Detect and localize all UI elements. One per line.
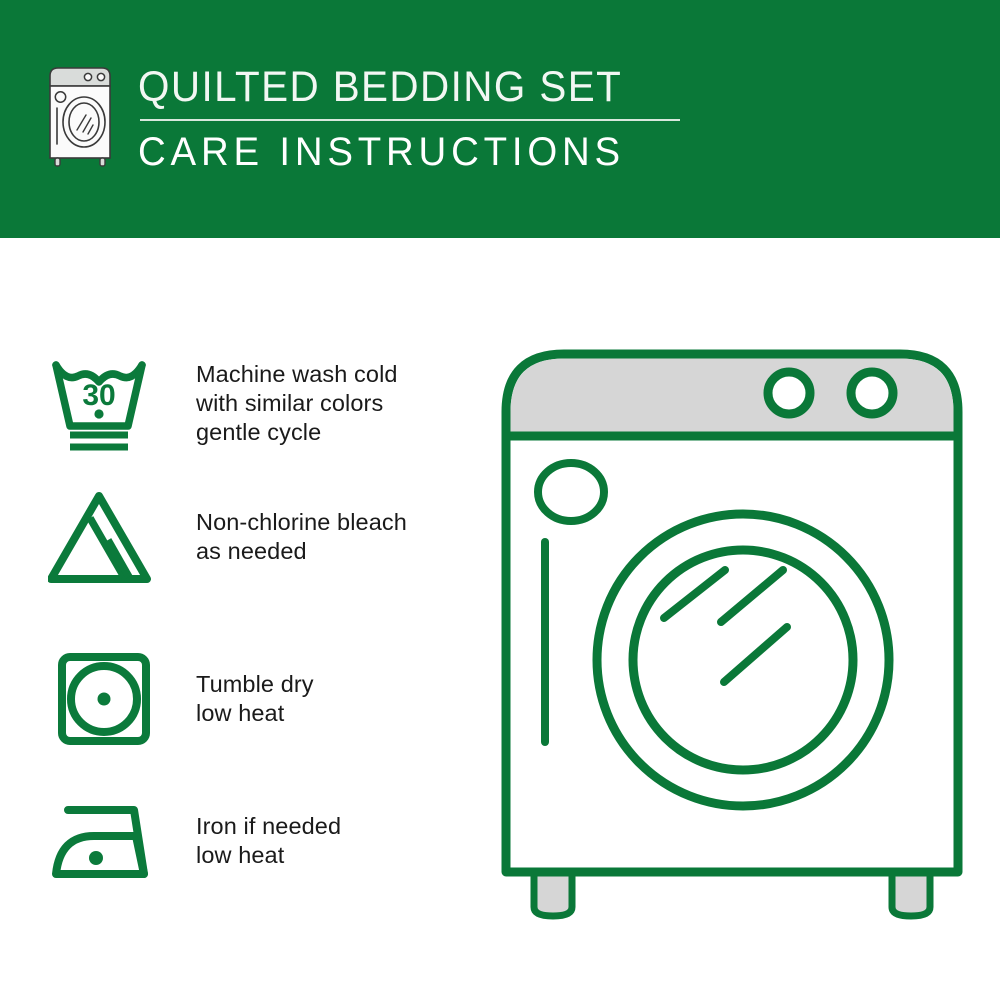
- header-band: QUILTED BEDDING SET CARE INSTRUCTIONS: [0, 0, 1000, 238]
- header-title-group: QUILTED BEDDING SET CARE INSTRUCTIONS: [138, 62, 680, 174]
- front-load-washing-machine-illustration: [490, 330, 990, 930]
- care-row-wash: 30 Machine wash cold with similar colors…: [48, 352, 398, 456]
- header-content: QUILTED BEDDING SET CARE INSTRUCTIONS: [44, 62, 680, 174]
- washing-machine-icon: [44, 62, 116, 172]
- care-row-bleach: Non-chlorine bleach as needed: [48, 486, 407, 590]
- care-text-wash: Machine wash cold with similar colors ge…: [160, 352, 398, 447]
- detergent-dial: [538, 463, 604, 521]
- knob-right: [851, 372, 893, 414]
- care-text-bleach: Non-chlorine bleach as needed: [160, 486, 407, 566]
- care-text-iron: Iron if needed low heat: [160, 790, 341, 870]
- page-title: QUILTED BEDDING SET: [138, 64, 622, 110]
- tumble-dry-low-heat-icon: [48, 648, 160, 752]
- care-row-tumble-dry: Tumble dry low heat: [48, 648, 314, 752]
- care-instructions-infographic: QUILTED BEDDING SET CARE INSTRUCTIONS 30…: [0, 0, 1000, 1000]
- title-divider: [140, 119, 680, 121]
- iron-low-heat-icon: [48, 790, 160, 894]
- page-subtitle: CARE INSTRUCTIONS: [138, 130, 625, 174]
- non-chlorine-bleach-triangle-icon: [48, 486, 160, 590]
- knob-left: [768, 372, 810, 414]
- care-text-tumble-dry: Tumble dry low heat: [160, 648, 314, 728]
- wash-basin-30-gentle-icon: 30: [48, 352, 160, 456]
- door-inner-ring: [633, 550, 853, 770]
- wash-temperature-label: 30: [82, 379, 115, 412]
- care-row-iron: Iron if needed low heat: [48, 790, 341, 894]
